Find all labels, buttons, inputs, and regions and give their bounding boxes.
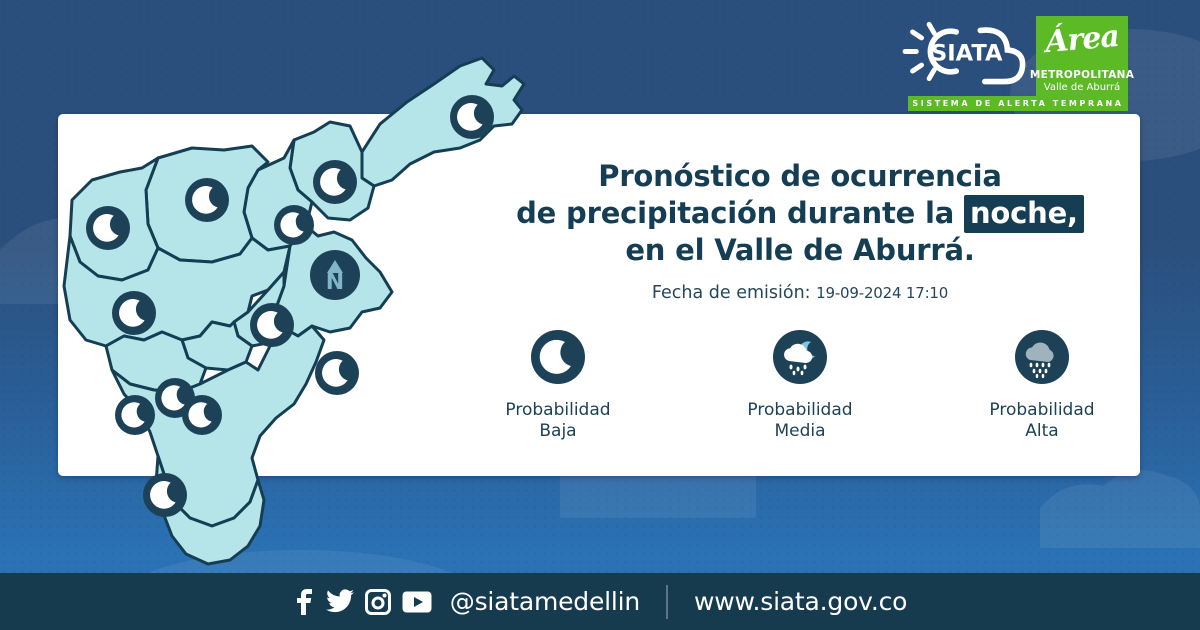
legend-baja-line2: Baja — [539, 421, 576, 441]
headline-line-2: de precipitación durante la — [516, 196, 954, 230]
issued-date-row: Fecha de emisión: 19-09-2024 17:10 — [470, 283, 1130, 303]
issued-date-value: 19-09-2024 17:10 — [816, 284, 948, 302]
legend-item-alta: Probabilidad Alta — [967, 330, 1117, 443]
marker-angelopolis — [143, 473, 187, 517]
siata-tagline-text: SISTEMA DE ALERTA TEMPRANA — [912, 99, 1123, 108]
area-script-text: Área — [1035, 18, 1130, 61]
headline-line-1: Pronóstico de ocurrencia — [598, 159, 1001, 193]
twitter-icon[interactable] — [326, 589, 354, 615]
social-icons — [293, 588, 432, 616]
legend: Probabilidad Baja Probabilidad Media — [470, 330, 1130, 443]
legend-alta-line1: Probabilidad — [989, 400, 1094, 420]
legend-media-line2: Media — [774, 421, 825, 441]
logo-group: SIATA Área METROPOLITANA Valle de Aburrá — [902, 16, 1128, 98]
moon-icon — [531, 330, 585, 384]
legend-baja-line1: Probabilidad — [505, 400, 610, 420]
compass-rose: N — [310, 250, 360, 300]
website-url[interactable]: www.siata.gov.co — [694, 587, 907, 616]
marker-envigado — [315, 351, 359, 395]
siata-logo: SIATA — [902, 16, 1030, 90]
cloud-moon-rain-icon — [773, 330, 827, 384]
cloud-heavy-rain-icon — [1015, 330, 1069, 384]
legend-item-media: Probabilidad Media — [725, 330, 875, 443]
marker-barbosa — [450, 95, 494, 139]
siata-sun-cloud-icon: SIATA — [902, 16, 1030, 90]
legend-label-media: Probabilidad Media — [725, 400, 875, 443]
facebook-icon[interactable] — [293, 588, 315, 616]
issued-date-label: Fecha de emisión: — [652, 283, 811, 303]
footer-bar: @siatamedellin www.siata.gov.co — [0, 573, 1200, 630]
valle-de-aburra-map: N — [62, 40, 532, 580]
area-metropolitana-logo: Área METROPOLITANA Valle de Aburrá — [1036, 16, 1128, 98]
footer-divider — [666, 585, 668, 619]
marker-caldas — [182, 395, 222, 435]
social-handle[interactable]: @siatamedellin — [450, 587, 640, 616]
headline-block: Pronóstico de ocurrencia de precipitació… — [470, 158, 1130, 303]
legend-label-baja: Probabilidad Baja — [483, 400, 633, 443]
area-metropolitana-text: METROPOLITANA — [1030, 70, 1134, 81]
legend-alta-line2: Alta — [1025, 421, 1058, 441]
legend-media-line1: Probabilidad — [747, 400, 852, 420]
marker-la-estrella — [115, 395, 155, 435]
marker-bello — [185, 178, 229, 222]
compass-label: N — [326, 270, 344, 295]
area-valle-text: Valle de Aburrá — [1044, 82, 1120, 94]
marker-medellin — [112, 291, 156, 335]
headline-line-3: en el Valle de Aburrá. — [625, 233, 974, 267]
headline: Pronóstico de ocurrencia de precipitació… — [470, 158, 1130, 269]
headline-highlight: noche, — [964, 195, 1084, 233]
youtube-icon[interactable] — [402, 591, 432, 613]
marker-copacabana — [274, 205, 314, 245]
siata-tagline-bar: SISTEMA DE ALERTA TEMPRANA — [908, 96, 1128, 111]
siata-wordmark: SIATA — [931, 41, 1003, 67]
legend-label-alta: Probabilidad Alta — [967, 400, 1117, 443]
marker-itagui — [250, 303, 294, 347]
marker-san-pedro — [86, 206, 130, 250]
infographic-canvas: SIATA Área METROPOLITANA Valle de Aburrá… — [0, 0, 1200, 630]
marker-girardota — [313, 160, 357, 204]
instagram-icon[interactable] — [365, 589, 391, 615]
legend-item-baja: Probabilidad Baja — [483, 330, 633, 443]
